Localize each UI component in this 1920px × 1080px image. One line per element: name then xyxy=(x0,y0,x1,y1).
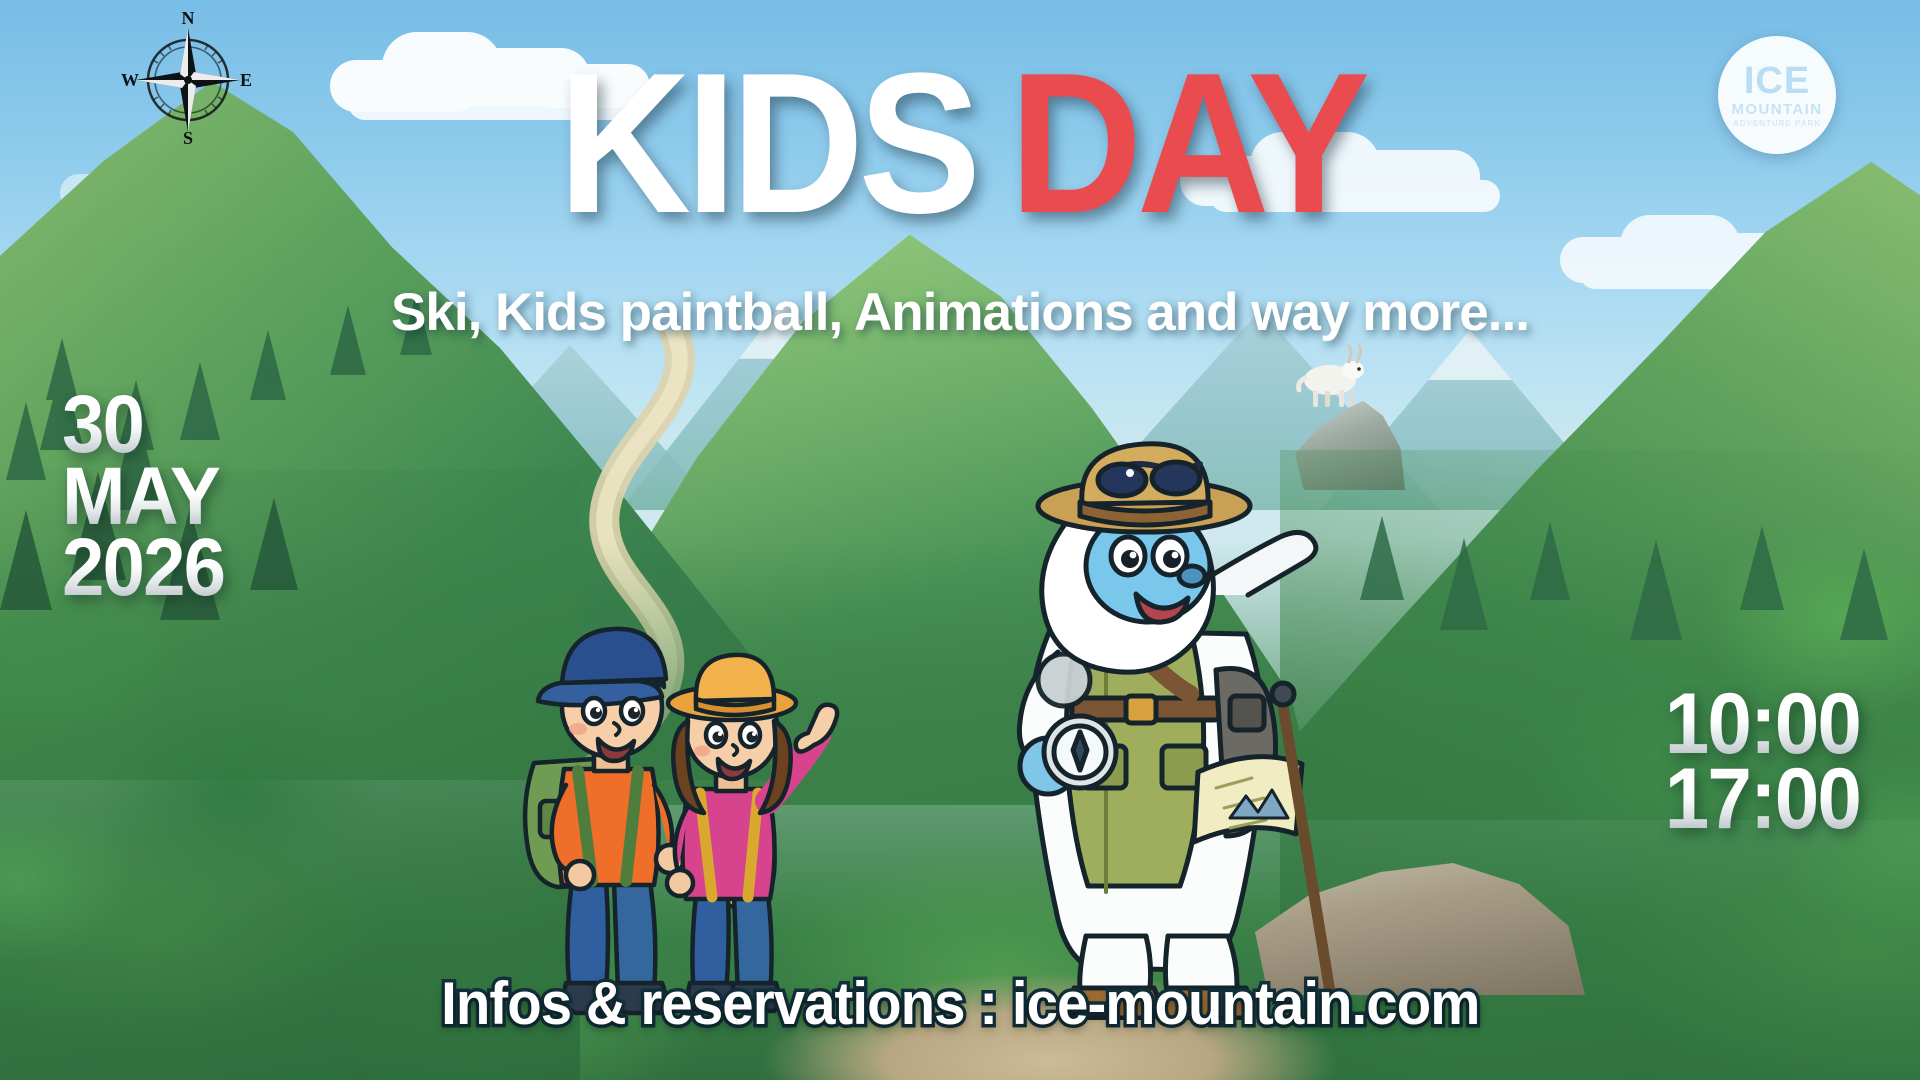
title-day-word: DAY xyxy=(1009,52,1364,236)
date-month: MAY xyxy=(62,464,224,530)
event-time-block: 10:00 17:00 xyxy=(1650,690,1860,840)
subtitle: Ski, Kids paintball, Animations and way … xyxy=(0,282,1920,343)
time-open: 10:00 xyxy=(1665,690,1860,759)
date-day: 30 xyxy=(62,392,224,458)
footer-bar: Infos & reservations : ice-mountain.com xyxy=(0,969,1920,1038)
time-close: 17:00 xyxy=(1665,765,1860,834)
compass-north-label: N xyxy=(182,8,195,28)
event-date-block: 30 MAY 2026 xyxy=(62,392,236,607)
children-group xyxy=(520,595,850,1025)
page-title: KIDSDAY xyxy=(0,52,1920,236)
title-kids-word: KIDS xyxy=(558,52,976,236)
kids-day-poster: N S E W ICE MOUNTAIN ADVENTURE PARK KIDS… xyxy=(0,0,1920,1080)
yeti-explorer-mascot xyxy=(930,380,1370,1020)
date-year: 2026 xyxy=(62,535,224,601)
footer-info-text[interactable]: Infos & reservations : ice-mountain.com xyxy=(441,969,1479,1038)
